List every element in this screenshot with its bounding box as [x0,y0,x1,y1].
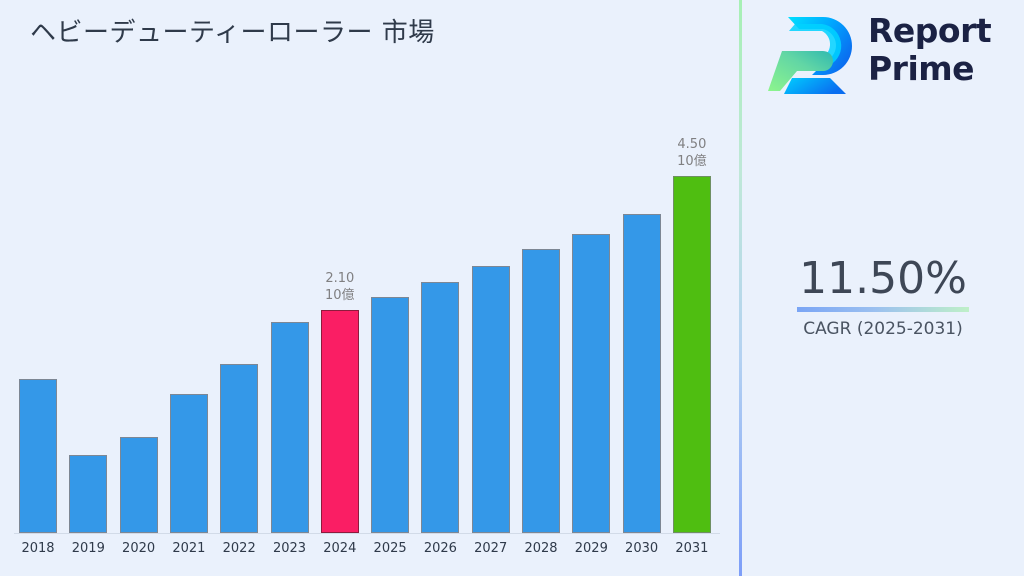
bar-2029[interactable] [572,234,610,533]
x-tick-2024: 2024 [314,541,366,556]
bar-value-amount-2031: 4.50 [656,136,728,153]
bar-group-2031[interactable]: 4.5010億 [666,0,718,576]
bar-2020[interactable] [120,437,158,533]
bar-value-unit-2031: 10億 [656,153,728,170]
bar-group-2027[interactable] [465,0,517,576]
bar-2025[interactable] [371,297,409,533]
bar-2026[interactable] [421,282,459,533]
bar-2018[interactable] [19,379,57,533]
bar-group-2030[interactable] [616,0,668,576]
bar-group-2018[interactable] [12,0,64,576]
x-tick-2018: 2018 [12,541,64,556]
report-prime-logo-text: Report Prime [868,12,1018,88]
x-tick-2031: 2031 [666,541,718,556]
logo-text-line1: Report [868,12,1018,50]
bar-2028[interactable] [522,249,560,533]
bar-2021[interactable] [170,394,208,533]
x-tick-2027: 2027 [465,541,517,556]
bar-2023[interactable] [271,322,309,533]
bar-2030[interactable] [623,214,661,533]
bar-group-2025[interactable] [364,0,416,576]
bar-2022[interactable] [220,364,258,533]
bar-value-label-2031: 4.5010億 [656,136,728,170]
bar-2031[interactable] [673,176,711,533]
cagr-block: 11.50% CAGR (2025-2031) [742,255,1024,339]
cagr-value: 11.50% [742,255,1024,303]
x-tick-2022: 2022 [213,541,265,556]
bar-group-2021[interactable] [163,0,215,576]
bar-group-2029[interactable] [565,0,617,576]
bar-group-2019[interactable] [62,0,114,576]
bar-chart-plot: 2.1010億4.5010億 2018201920202021202220232… [0,0,740,576]
bar-2024[interactable] [321,310,359,533]
x-tick-2023: 2023 [264,541,316,556]
x-tick-2026: 2026 [414,541,466,556]
x-tick-2030: 2030 [616,541,668,556]
bar-group-2022[interactable] [213,0,265,576]
x-tick-2020: 2020 [113,541,165,556]
bar-group-2024[interactable]: 2.1010億 [314,0,366,576]
report-prime-logo: Report Prime [768,8,1008,96]
cagr-caption: CAGR (2025-2031) [742,319,1024,339]
report-prime-logo-mark-icon [768,12,860,96]
bar-group-2028[interactable] [515,0,567,576]
x-tick-2025: 2025 [364,541,416,556]
logo-text-line2: Prime [868,50,1018,88]
bar-2027[interactable] [472,266,510,533]
chart-page: ヘビーデューティーローラー 市場 2.1010億4.5010億 20182019… [0,0,1024,576]
bar-group-2020[interactable] [113,0,165,576]
x-tick-2019: 2019 [62,541,114,556]
bar-2019[interactable] [69,455,107,533]
x-tick-2029: 2029 [565,541,617,556]
x-tick-2028: 2028 [515,541,567,556]
x-tick-2021: 2021 [163,541,215,556]
cagr-divider-rule [797,307,969,312]
right-panel: Report Prime 11.50% CAGR (2025-2031) [742,0,1024,576]
bar-group-2026[interactable] [414,0,466,576]
